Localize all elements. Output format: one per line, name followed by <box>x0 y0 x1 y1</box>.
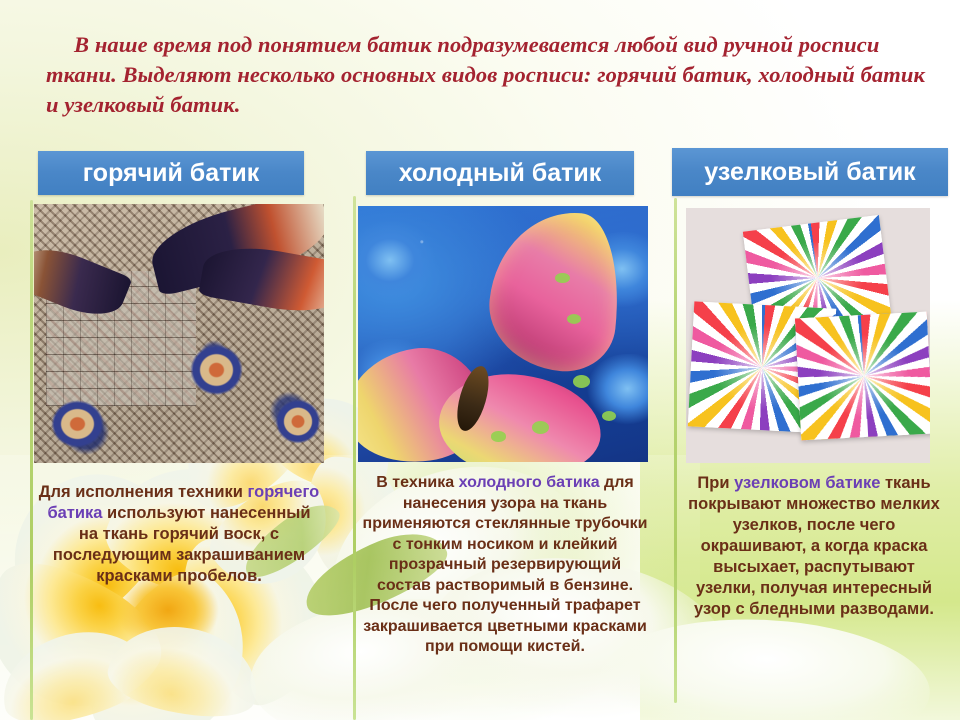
caption-text-part1: При <box>697 474 734 492</box>
caption-knot-batik: При узелковом батике ткань покрывают мно… <box>686 473 942 620</box>
image-cold-batik[interactable] <box>358 206 648 462</box>
tie-dye-fabric-squares <box>686 208 930 463</box>
page-title: В наше время под понятием батик подразум… <box>46 30 926 120</box>
header-knot-batik[interactable]: узелковый батик <box>672 148 948 196</box>
divider-line-left <box>30 200 33 720</box>
silk-painted-butterfly <box>358 206 648 462</box>
indonesian-wax-batik-pattern <box>34 204 324 463</box>
caption-cold-batik: В техника холодного батика для нанесения… <box>360 473 650 658</box>
divider-line-middle <box>353 196 356 720</box>
image-knot-batik[interactable] <box>686 208 930 463</box>
caption-highlight: холодного батика <box>459 474 600 491</box>
header-hot-batik[interactable]: горячий батик <box>38 151 304 195</box>
plumeria-flower-small <box>0 628 260 720</box>
image-hot-batik[interactable] <box>34 204 324 463</box>
caption-text-part1: Для исполнения техники <box>39 483 248 501</box>
header-cold-batik[interactable]: холодный батик <box>366 151 634 195</box>
divider-line-right <box>674 198 677 703</box>
caption-text-part2: ткань покрывают множество мелких узелков… <box>688 474 940 618</box>
caption-text-part1: В техника <box>376 474 458 491</box>
caption-highlight: узелковом батике <box>734 474 880 492</box>
caption-hot-batik: Для исполнения техники горячего батика и… <box>36 482 322 587</box>
caption-text-part2: для нанесения узора на ткань применяются… <box>363 474 648 655</box>
slide-canvas: В наше время под понятием батик подразум… <box>0 0 960 720</box>
